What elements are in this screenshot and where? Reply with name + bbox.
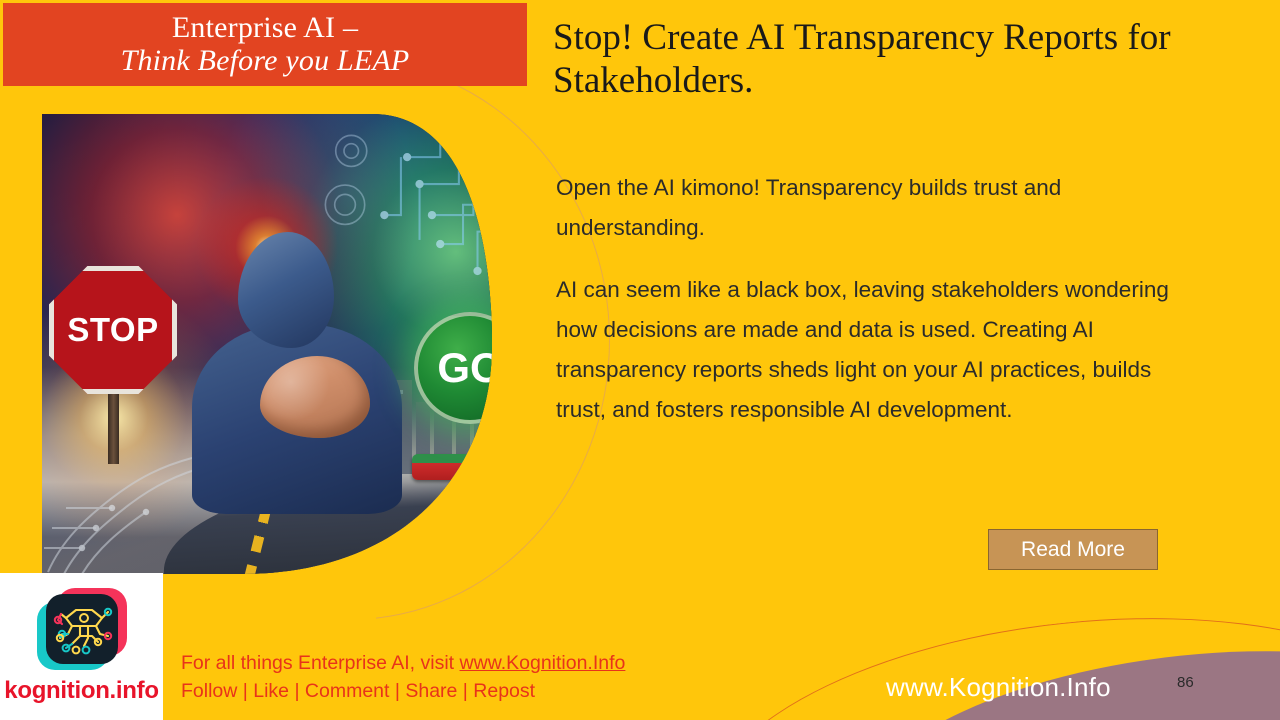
read-more-button[interactable]: Read More: [988, 529, 1158, 570]
slide-canvas: Enterprise AI – Think Before you LEAP: [0, 0, 1280, 720]
footer-line-1-prefix: For all things Enterprise AI, visit: [181, 652, 460, 674]
stop-sign-octagon: STOP: [49, 266, 177, 394]
footer-text: For all things Enterprise AI, visit www.…: [181, 650, 625, 705]
logo-mark: [37, 588, 127, 672]
paragraph-1: Open the AI kimono! Transparency builds …: [556, 168, 1181, 248]
page-title: Stop! Create AI Transparency Reports for…: [553, 16, 1173, 103]
banner-line-2: Think Before you LEAP: [121, 45, 410, 77]
stop-sign-icon: STOP: [49, 266, 177, 394]
red-bus-icon: [412, 454, 474, 480]
stop-sign-pole: [108, 386, 119, 464]
banner-enterprise-ai: Enterprise AI – Think Before you LEAP: [3, 3, 527, 86]
stop-sign-label: STOP: [67, 311, 158, 349]
banner-line-1: Enterprise AI –: [172, 12, 358, 44]
body-copy: Open the AI kimono! Transparency builds …: [556, 168, 1181, 452]
footer-line-1: For all things Enterprise AI, visit www.…: [181, 650, 625, 678]
footer-line-2: Follow | Like | Comment | Share | Repost: [181, 678, 625, 706]
go-sign-label: GO: [437, 344, 492, 392]
footer-website-link[interactable]: www.Kognition.Info: [460, 652, 626, 674]
paragraph-2: AI can seem like a black box, leaving st…: [556, 270, 1181, 430]
footer-swoosh-url: www.Kognition.Info: [886, 672, 1111, 703]
page-number: 86: [1177, 674, 1194, 691]
hero-image: STOP GO: [42, 114, 492, 574]
logo-tile: [46, 594, 118, 664]
circuit-brain-icon: [46, 594, 118, 664]
kognition-logo[interactable]: kognition.info: [0, 573, 163, 720]
logo-wordmark: kognition.info: [4, 677, 158, 705]
